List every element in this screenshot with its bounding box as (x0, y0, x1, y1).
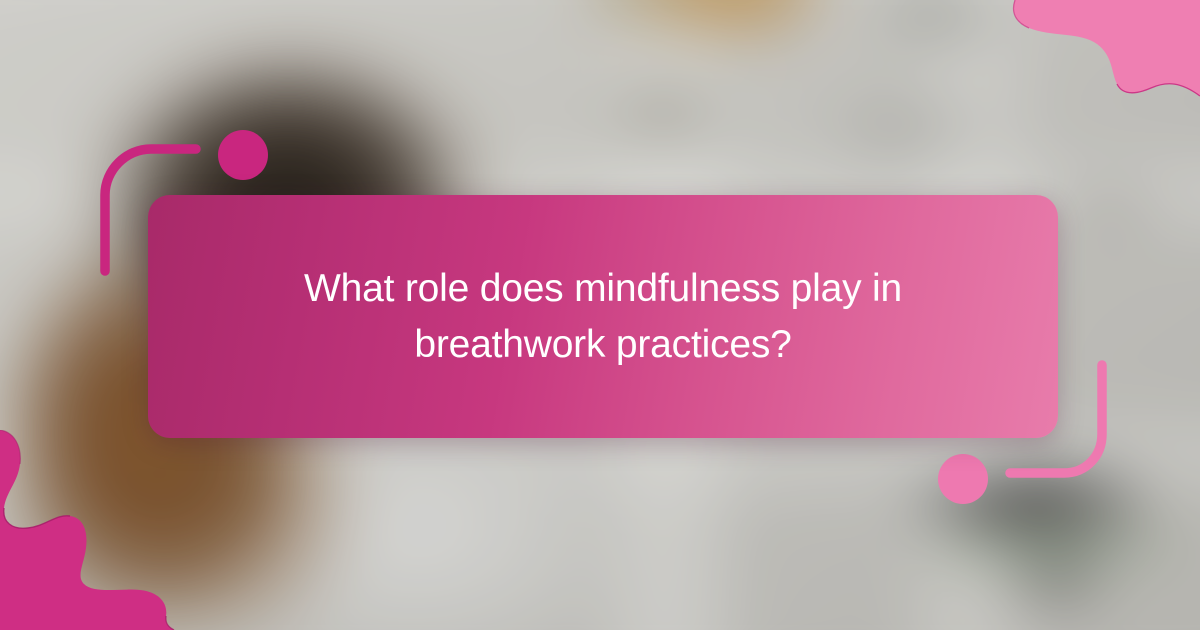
accent-dot-bottom-right (938, 454, 988, 504)
accent-dot-top-left (218, 130, 268, 180)
question-text: What role does mindfulness play in breat… (253, 261, 953, 372)
question-card: What role does mindfulness play in breat… (148, 195, 1058, 438)
question-card-banner: What role does mindfulness play in breat… (0, 0, 1200, 630)
